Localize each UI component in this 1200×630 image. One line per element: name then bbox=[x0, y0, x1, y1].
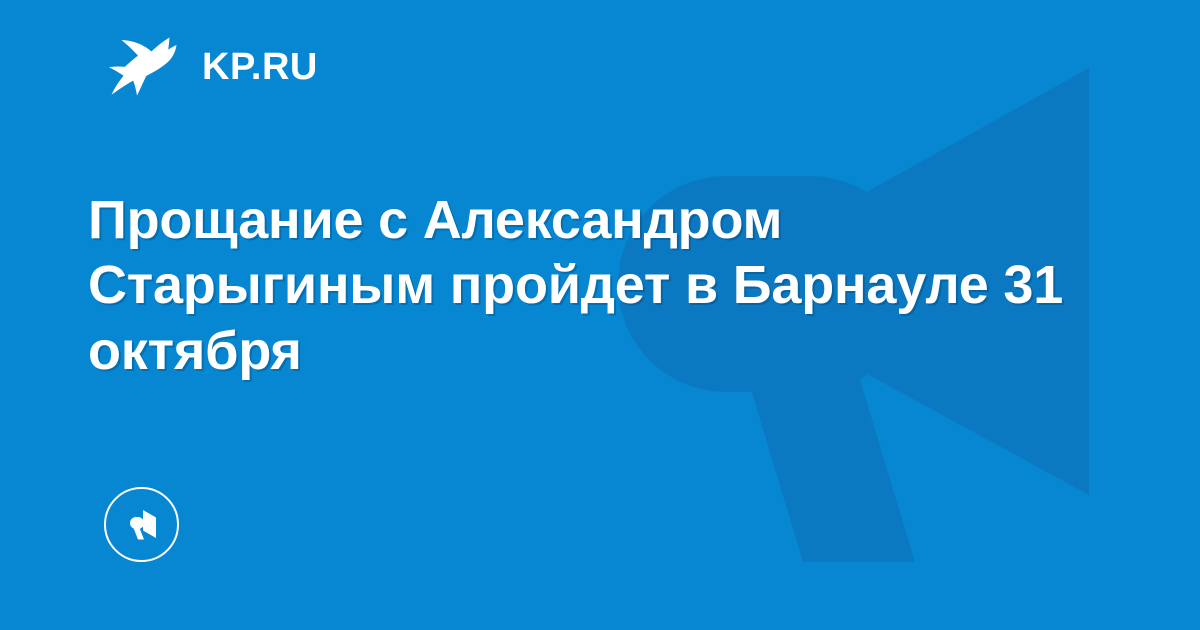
brand-logo[interactable]: KP.RU bbox=[106, 33, 318, 101]
megaphone-badge[interactable] bbox=[104, 487, 179, 562]
swallow-bird-icon bbox=[106, 35, 178, 99]
brand-name-label: KP.RU bbox=[202, 48, 318, 86]
social-share-card: KP.RU Прощание с Александром Старыгиным … bbox=[0, 0, 1200, 630]
headline-title: Прощание с Александром Старыгиным пройде… bbox=[88, 188, 1088, 384]
megaphone-icon bbox=[122, 505, 162, 545]
